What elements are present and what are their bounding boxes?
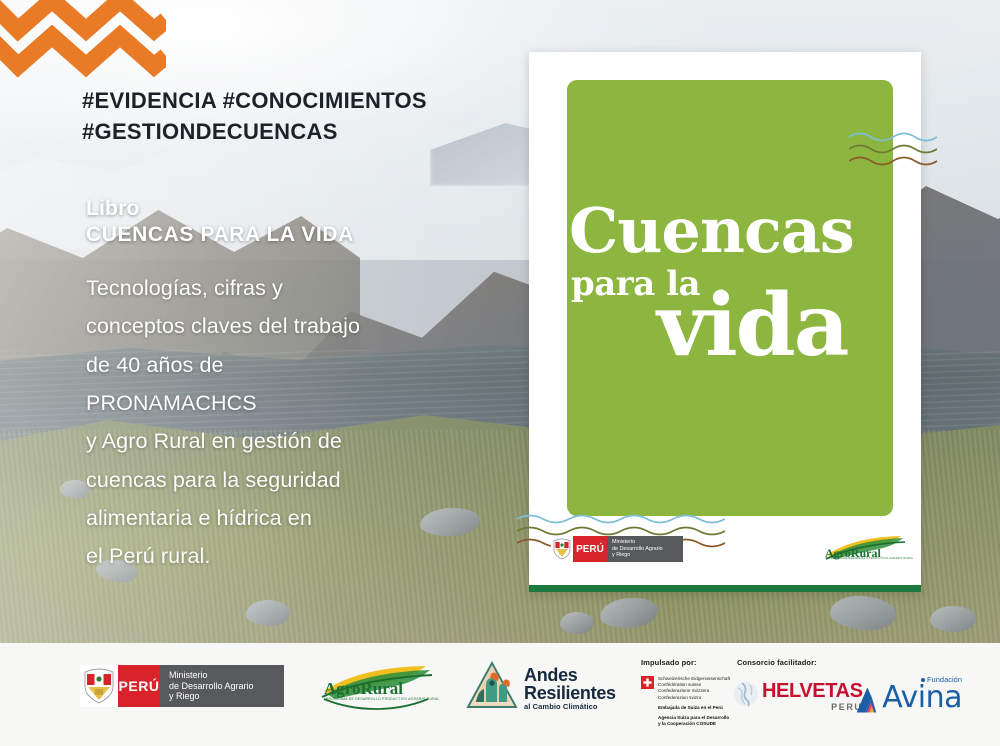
agrorural-name-part1: Agro <box>324 679 361 698</box>
promo-headline: CUENCAS PARA LA VIDA <box>86 222 506 248</box>
footer-helvetas-logo: HELVETAS PERU <box>733 679 863 714</box>
agrorural-name-part2: Rural <box>361 679 404 698</box>
andes-resilientes-wordmark: Andes Resilientes al Cambio Climático <box>524 666 616 711</box>
andes-mountain-triangle-icon <box>466 661 518 716</box>
footer-agrorural-logo: AgroRural PROGRAMA DE DESARROLLO PRODUCT… <box>318 663 436 711</box>
agrorural-tagline: PROGRAMA DE DESARROLLO PRODUCTIVO AGRARI… <box>826 557 913 560</box>
cover-title-line-1: Cuencas <box>529 202 921 259</box>
footer-andes-resilientes-logo: Andes Resilientes al Cambio Climático <box>466 661 616 716</box>
avina-name: Avina <box>882 680 962 715</box>
promo-blurb-line: PRONAMACHCS <box>86 384 506 422</box>
hashtag-line-2: #GESTIONDECUENCAS <box>82 116 512 147</box>
promo-blurb-line: Tecnologías, cifras y <box>86 269 506 307</box>
promo-blurb-line: y Agro Rural en gestión de <box>86 422 506 460</box>
promo-kicker: Libro <box>86 196 506 222</box>
hashtag-block: #EVIDENCIA #CONOCIMIENTOS #GESTIONDECUEN… <box>82 85 512 147</box>
peru-coat-of-arms-icon <box>551 536 573 562</box>
peru-country-label: PERÚ <box>118 665 160 707</box>
swiss-embassy-line: Embajada de Suiza en el Perú <box>658 705 730 711</box>
andes-line-2: Resilientes <box>524 684 616 702</box>
swiss-confederation-line: Confederaziun svizra <box>658 695 730 701</box>
cover-footer-logos: PERÚ Ministerio de Desarrollo Agrario y … <box>529 530 921 592</box>
hashtag-line-1: #EVIDENCIA #CONOCIMIENTOS <box>82 85 512 116</box>
agrorural-tagline: PROGRAMA DE DESARROLLO PRODUCTIVO AGRARI… <box>326 697 440 701</box>
avina-dot-icon <box>921 678 925 682</box>
avina-prefix: Fundación <box>921 675 962 684</box>
swiss-agency-line: y la Cooperación COSUDE <box>658 721 730 727</box>
peru-coat-of-arms-icon <box>80 665 118 707</box>
promo-copy-block: Libro CUENCAS PARA LA VIDA Tecnologías, … <box>86 196 506 575</box>
book-cover-image: Cuencas para la vida PERÚ <box>529 52 921 592</box>
helvetas-globe-icon <box>733 679 759 714</box>
andes-line-3: al Cambio Climático <box>524 703 616 711</box>
promo-blurb-line: cuencas para la seguridad <box>86 461 506 499</box>
peru-country-label: PERÚ <box>573 536 607 562</box>
promo-blurb-line: el Perú rural. <box>86 537 506 575</box>
andes-resilientes-zigzag-mark-icon <box>0 0 166 78</box>
peru-ministry-line: y Riego <box>169 691 254 702</box>
promo-blurb: Tecnologías, cifras y conceptos claves d… <box>86 269 506 575</box>
peru-ministry-line: y Riego <box>612 552 663 558</box>
cover-agrorural-logo: AgroRural PROGRAMA DE DESARROLLO PRODUCT… <box>823 534 909 564</box>
footer-swiss-cooperation-logo: Schweizerische Eidgenossenschaft Confédé… <box>641 676 730 727</box>
cover-peru-ministry-logo: PERÚ Ministerio de Desarrollo Agrario y … <box>551 536 683 562</box>
helvetas-name: HELVETAS <box>762 681 863 701</box>
footer-peru-ministry-logo: PERÚ Ministerio de Desarrollo Agrario y … <box>80 665 284 707</box>
andes-line-1: Andes <box>524 666 616 684</box>
swiss-flag-icon <box>641 676 654 694</box>
footer-logo-row: PERÚ Ministerio de Desarrollo Agrario y … <box>0 643 1000 746</box>
footer-band: PERÚ Ministerio de Desarrollo Agrario y … <box>0 643 1000 746</box>
peru-ministry-line: Ministerio <box>169 670 254 681</box>
footer-avina-logo: Avina Fundación <box>854 677 962 717</box>
promo-blurb-line: alimentaria e hídrica en <box>86 499 506 537</box>
swiss-confederation-text: Schweizerische Eidgenossenschaft Confédé… <box>658 676 730 727</box>
peru-ministry-label: Ministerio de Desarrollo Agrario y Riego <box>607 536 683 562</box>
impulsado-por-caption: Impulsado por: <box>641 658 697 667</box>
promo-blurb-line: conceptos claves del trabajo <box>86 307 506 345</box>
promo-canvas: #EVIDENCIA #CONOCIMIENTOS #GESTIONDECUEN… <box>0 0 1000 746</box>
helvetas-wordmark: HELVETAS PERU <box>762 681 863 712</box>
peru-ministry-line: de Desarrollo Agrario <box>169 681 254 692</box>
consorcio-facilitador-caption: Consorcio facilitador: <box>737 658 817 667</box>
helvetas-country: PERU <box>762 703 863 712</box>
peru-ministry-label: Ministerio de Desarrollo Agrario y Riego <box>160 665 284 707</box>
promo-blurb-line: de 40 años de <box>86 346 506 384</box>
cover-title-block: Cuencas para la vida <box>529 202 921 363</box>
cover-green-accent-bar <box>529 585 921 592</box>
